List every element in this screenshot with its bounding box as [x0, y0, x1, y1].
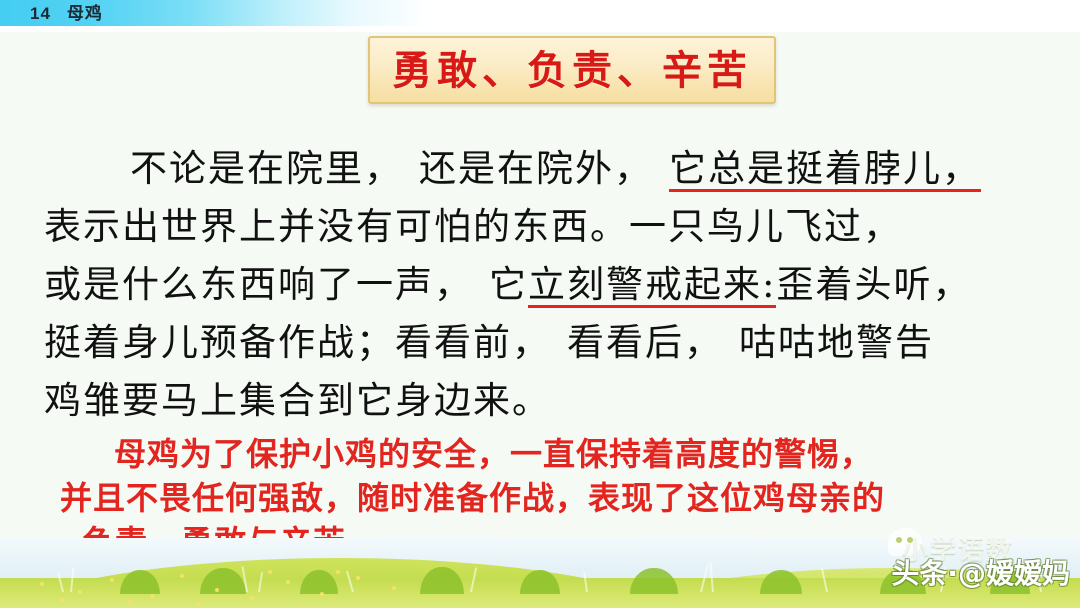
flower-dot — [286, 580, 290, 584]
flower-dot — [60, 598, 64, 602]
flower-dot — [110, 578, 114, 582]
body-text: 挺着身儿预备作战；看看前， — [44, 321, 551, 364]
lesson-number: 14 — [30, 4, 51, 23]
body-text: 咕咕地警告 — [739, 321, 934, 364]
flower-dot — [215, 588, 219, 592]
body-line-1: 不论是在院里，还是在院外，它总是挺着脖儿， — [44, 140, 1040, 198]
flower-dot — [356, 576, 360, 580]
body-text: 还是在院外， — [419, 147, 653, 190]
summary-line-1: 母鸡为了保护小鸡的安全，一直保持着高度的警惕， — [60, 432, 1040, 476]
body-line-5: 鸡雏要马上集合到它身边来。 — [44, 372, 1040, 430]
body-text: 不论是在院里， — [130, 147, 403, 190]
flower-dot — [392, 586, 396, 590]
underlined-phrase: 立刻警戒起来: — [528, 256, 776, 314]
body-text: 歪着头听， — [776, 263, 971, 306]
body-text: 表示出世界上并没有可怕的东西。一只鸟儿飞过， — [44, 205, 902, 248]
title-plaque: 勇敢、负责、辛苦 — [368, 36, 776, 104]
flower-dot — [196, 602, 200, 606]
body-line-2: 表示出世界上并没有可怕的东西。一只鸟儿飞过， — [44, 198, 1040, 256]
body-paragraph: 不论是在院里，还是在院外，它总是挺着脖儿， 表示出世界上并没有可怕的东西。一只鸟… — [44, 140, 1040, 430]
lesson-header-bar — [0, 0, 1080, 26]
flower-dot — [40, 582, 44, 586]
slide-canvas: 14母鸡 勇敢、负责、辛苦 不论是在院里，还是在院外，它总是挺着脖儿， 表示出世… — [0, 0, 1080, 608]
lesson-title: 母鸡 — [67, 4, 103, 23]
underlined-phrase: 它总是挺着脖儿， — [669, 140, 981, 198]
body-text: 它 — [489, 263, 528, 306]
header-divider — [0, 26, 1080, 32]
flower-dot — [268, 570, 272, 574]
flower-dot — [128, 600, 132, 604]
flower-dot — [320, 592, 324, 596]
body-text: 看看后， — [567, 321, 723, 364]
lesson-header-label: 14母鸡 — [30, 1, 103, 26]
body-line-3: 或是什么东西响了一声，它立刻警戒起来:歪着头听， — [44, 256, 1040, 314]
flower-dot — [78, 590, 82, 594]
body-text: 鸡雏要马上集合到它身边来。 — [44, 379, 551, 422]
flower-dot — [250, 596, 254, 600]
flower-dot — [150, 594, 154, 598]
summary-line-2: 并且不畏任何强敌，随时准备作战，表现了这位鸡母亲的 — [60, 476, 1040, 520]
flower-dot — [180, 574, 184, 578]
body-text: 或是什么东西响了一声， — [44, 263, 473, 306]
watermark: 小学语数 头条·@嫒嫒妈 — [862, 532, 1072, 594]
flower-dot — [336, 570, 340, 574]
body-line-4: 挺着身儿预备作战；看看前，看看后，咕咕地警告 — [44, 314, 1040, 372]
watermark-handle: 头条·@嫒嫒妈 — [891, 552, 1070, 592]
page-title: 勇敢、负责、辛苦 — [370, 38, 774, 106]
